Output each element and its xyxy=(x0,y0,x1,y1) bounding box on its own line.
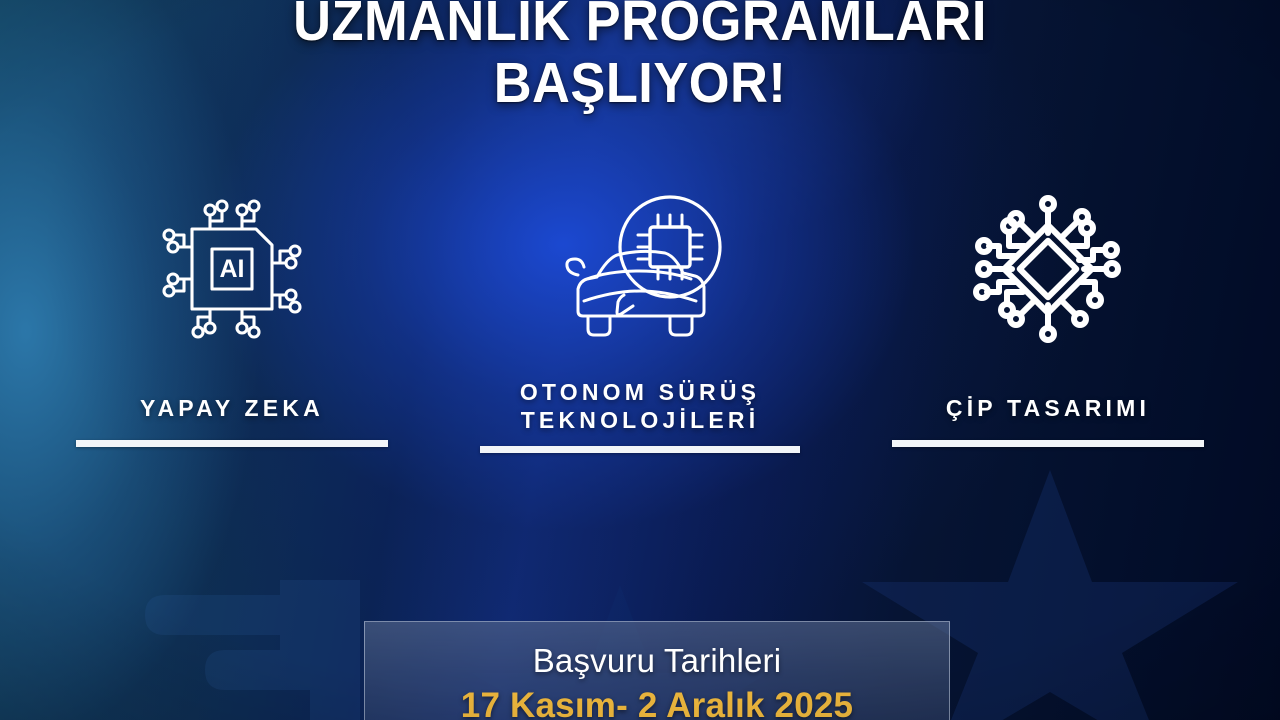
program-item-cip-tasarimi: ÇİP TASARIMI xyxy=(872,178,1224,498)
program-label: YAPAY ZEKA xyxy=(140,394,324,422)
program-item-yapay-zeka: AI xyxy=(56,178,408,498)
program-item-otonom-surus: OTONOM SÜRÜŞ TEKNOLOJİLERİ xyxy=(464,178,816,498)
ai-chip-icon: AI xyxy=(148,178,316,360)
headline-line-1: UZMANLIK PROGRAMLARI xyxy=(51,0,1229,48)
program-underline xyxy=(76,440,388,447)
dates-heading: Başvuru Tarihleri xyxy=(365,642,949,680)
application-dates-card: Başvuru Tarihleri 17 Kasım- 2 Aralık 202… xyxy=(364,621,950,720)
autonomous-car-chip-icon xyxy=(554,178,726,360)
dates-value: 17 Kasım- 2 Aralık 2025 xyxy=(365,686,949,720)
program-label: OTONOM SÜRÜŞ TEKNOLOJİLERİ xyxy=(520,378,760,434)
poster-canvas: UZMANLIK PROGRAMLARI BAŞLIYOR! AI xyxy=(0,0,1280,720)
program-underline xyxy=(480,446,800,453)
headline-line-2: BAŞLIYOR! xyxy=(51,56,1229,110)
program-underline xyxy=(892,440,1204,447)
program-list: AI xyxy=(0,178,1280,498)
page-title: UZMANLIK PROGRAMLARI BAŞLIYOR! xyxy=(0,0,1280,110)
svg-text:AI: AI xyxy=(220,255,245,283)
circuit-diamond-icon xyxy=(967,178,1129,360)
program-label: ÇİP TASARIMI xyxy=(946,394,1150,422)
